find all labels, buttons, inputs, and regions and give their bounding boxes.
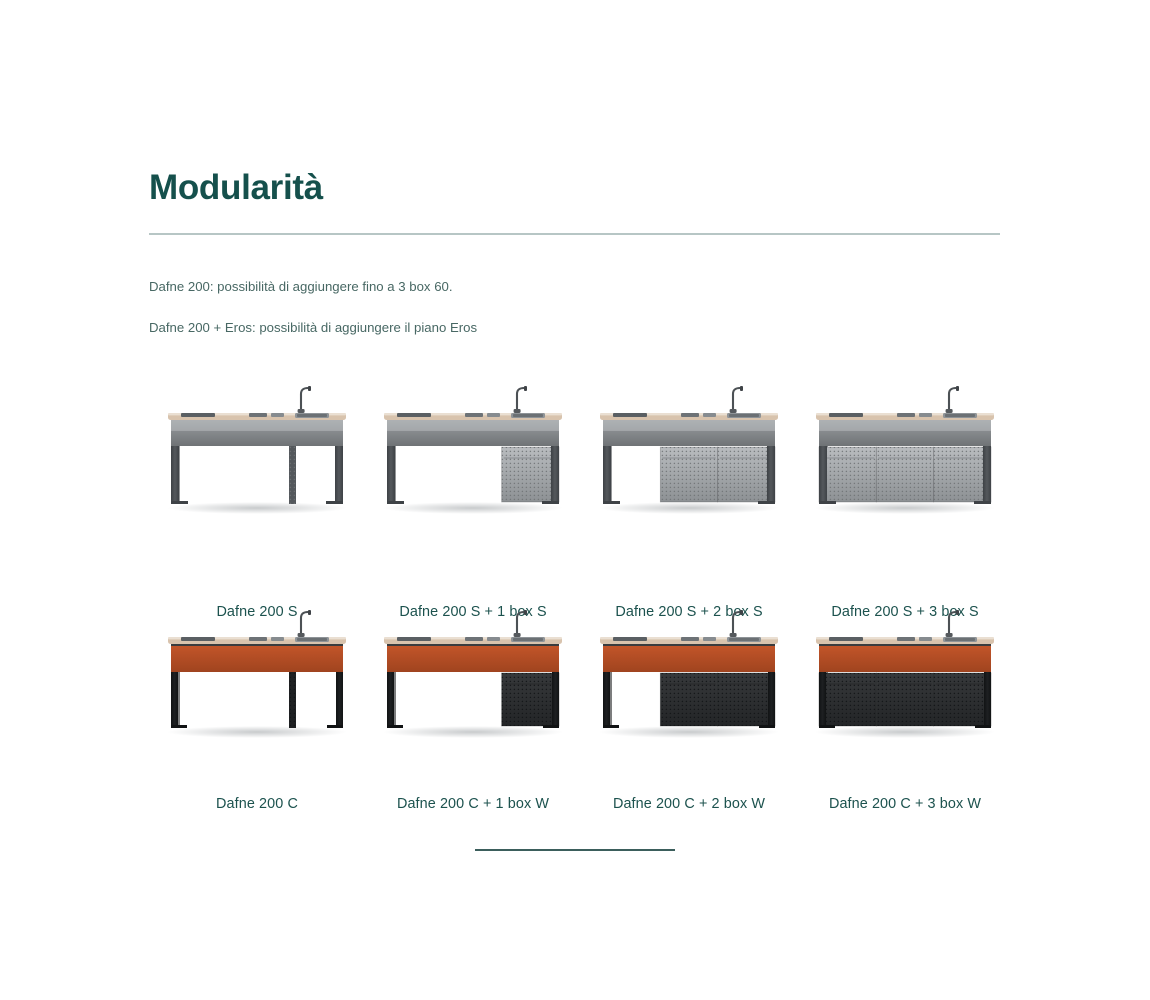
hob-icon [397, 637, 431, 641]
dafne-200-s-2-box-s-image[interactable] [581, 386, 797, 536]
title-divider [149, 233, 1000, 235]
product-cell[interactable]: Dafne 200 C + 2 box W [581, 620, 797, 812]
dafne-200-c-image[interactable] [149, 620, 365, 750]
dafne-200-c-2-box-w-image[interactable] [581, 620, 797, 750]
dafne-200-s-3-box-s-image[interactable] [797, 386, 1013, 536]
product-grid: Dafne 200 S [149, 386, 1000, 812]
hob-icon [829, 413, 863, 417]
hob-icon [181, 413, 215, 417]
product-caption: Dafne 200 C + 3 box W [829, 796, 981, 812]
product-caption: Dafne 200 S [216, 604, 297, 620]
faucet-icon [298, 386, 311, 413]
product-caption: Dafne 200 C [216, 796, 298, 812]
content-column: Modularità Dafne 200: possibilità di agg… [149, 0, 1000, 812]
hob-icon [397, 413, 431, 417]
bottom-divider [475, 849, 675, 851]
dafne-200-s-image[interactable] [149, 386, 365, 536]
product-cell[interactable]: Dafne 200 S [149, 386, 365, 620]
faucet-icon [514, 386, 527, 413]
product-cell[interactable]: Dafne 200 S + 3 box S [797, 386, 1013, 620]
intro-line-1: Dafne 200: possibilità di aggiungere fin… [149, 277, 1000, 297]
page-title: Modularità [149, 0, 1000, 208]
modularity-page: Modularità Dafne 200: possibilità di agg… [0, 0, 1150, 1000]
hob-icon [829, 637, 863, 641]
dafne-200-s-1-box-s-image[interactable] [365, 386, 581, 536]
product-cell[interactable]: Dafne 200 C [149, 620, 365, 812]
hob-icon [613, 637, 647, 641]
product-cell[interactable]: Dafne 200 C + 3 box W [797, 620, 1013, 812]
product-cell[interactable]: Dafne 200 S + 2 box S [581, 386, 797, 620]
product-cell[interactable]: Dafne 200 S + 1 box S [365, 386, 581, 620]
hob-icon [613, 413, 647, 417]
product-caption: Dafne 200 C + 1 box W [397, 796, 549, 812]
dafne-200-c-1-box-w-image[interactable] [365, 620, 581, 750]
product-cell[interactable]: Dafne 200 C + 1 box W [365, 620, 581, 812]
faucet-icon [946, 386, 959, 413]
dafne-200-c-3-box-w-image[interactable] [797, 620, 1013, 750]
faucet-icon [730, 386, 743, 413]
hob-icon [181, 637, 215, 641]
intro-text-block: Dafne 200: possibilità di aggiungere fin… [149, 277, 1000, 338]
product-caption: Dafne 200 C + 2 box W [613, 796, 765, 812]
intro-line-2: Dafne 200 + Eros: possibilità di aggiung… [149, 318, 1000, 338]
